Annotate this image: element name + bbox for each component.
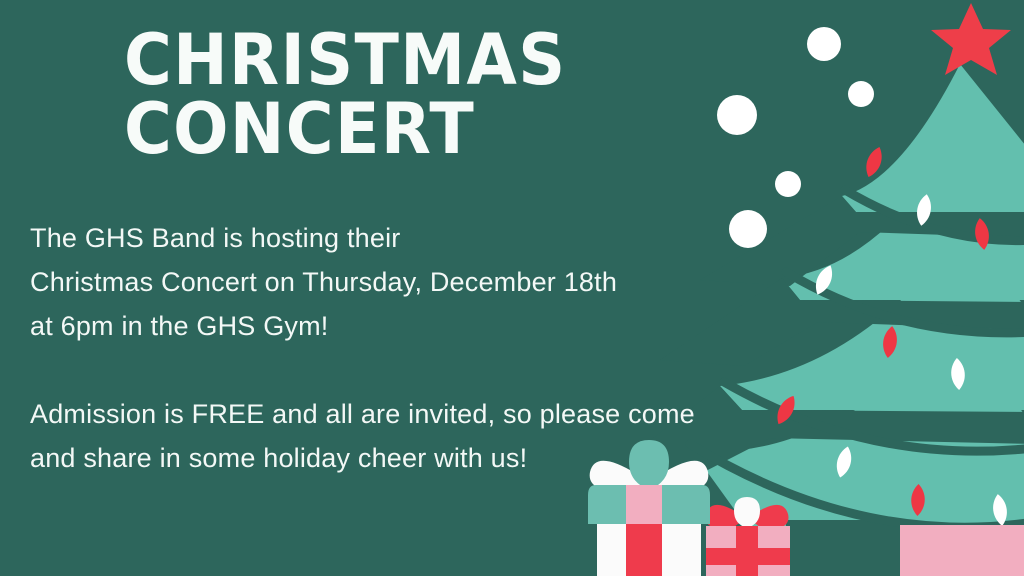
paragraph-admission: Admission is FREE and all are invited, s… xyxy=(30,392,720,480)
body-copy: The GHS Band is hosting their Christmas … xyxy=(30,216,720,480)
text-layer: Christmas Concert The GHS Band is hostin… xyxy=(0,0,1024,576)
paragraph-details: The GHS Band is hosting their Christmas … xyxy=(30,216,720,348)
christmas-concert-flyer: Christmas Concert The GHS Band is hostin… xyxy=(0,0,1024,576)
page-title: Christmas Concert xyxy=(124,26,645,163)
